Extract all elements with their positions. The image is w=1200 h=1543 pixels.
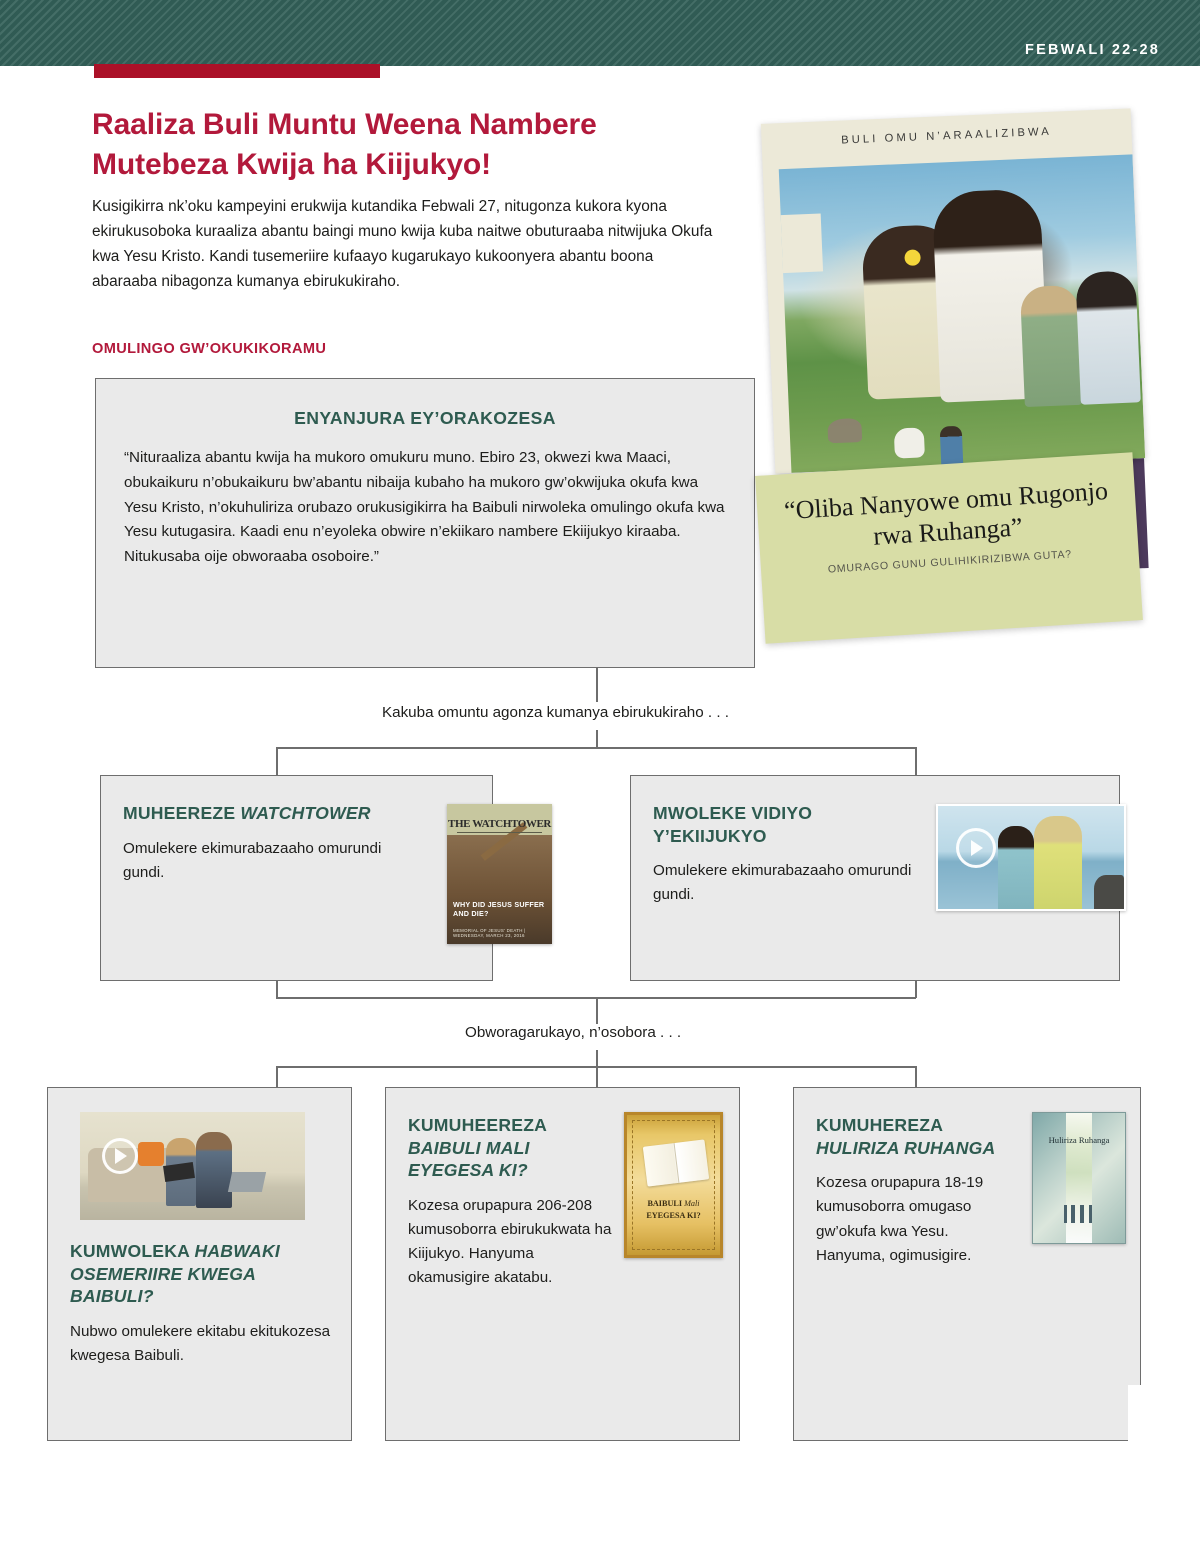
video-person-right bbox=[1034, 816, 1082, 911]
card-offer-listen-to-god-brochure: KUMUHEREZA HULIRIZA RUHANGA Kozesa orupa… bbox=[793, 1087, 1141, 1441]
red-accent-bar bbox=[94, 64, 380, 78]
connector-v-midleft-down bbox=[276, 981, 278, 998]
card-body: Nubwo omulekere ekitabu ekitukozesa kweg… bbox=[70, 1320, 332, 1369]
card-offer-bible-teach-book: KUMUHEEREZA BAIBULI MALI EYEGESA KI? Koz… bbox=[385, 1087, 740, 1441]
intro-paragraph: Kusigikirra nk’oku kampeyini erukwija ku… bbox=[92, 194, 717, 294]
section-subhead: OMULINGO GW’OKUKIKORAMU bbox=[92, 341, 326, 357]
flow-label-1: Kakuba omuntu agonza kumanya ebirukukira… bbox=[372, 704, 739, 721]
header-date-range: FEBWALI 22-28 bbox=[1025, 42, 1160, 58]
card-title-italic: HULIRIZA RUHANGA bbox=[816, 1138, 995, 1158]
connector-v-to-bot-2 bbox=[596, 1066, 598, 1088]
corner-notch bbox=[1128, 1385, 1152, 1443]
card-show-why-study-bible-video: KUMWOLEKA HABWAKI OSEMERIIRE KWEGA BAIBU… bbox=[47, 1087, 352, 1441]
cushion-shape bbox=[138, 1142, 164, 1166]
card-title: MUHEEREZE WATCHTOWER bbox=[123, 802, 423, 825]
bible-teach-book-cover: BAIBULI Mali EYEGESA KI? bbox=[624, 1112, 723, 1258]
cover-line1-italic: Mali bbox=[684, 1199, 699, 1208]
invitation-card-top: BULI OMU N’ARAALIZIBWA bbox=[761, 108, 1145, 473]
video-person-left bbox=[998, 826, 1034, 911]
connector-v-to-mid-left bbox=[276, 747, 278, 775]
card-title: KUMUHEREZA HULIRIZA RUHANGA bbox=[816, 1114, 1021, 1159]
card-title-italic: WATCHTOWER bbox=[240, 803, 370, 823]
card-title-plain: MUHEEREZE bbox=[123, 803, 240, 823]
card-title-plain: KUMUHEREZA bbox=[816, 1115, 942, 1135]
card-body: Omulekere ekimurabazaaho omurundi gundi. bbox=[653, 859, 923, 908]
laptop-shape bbox=[228, 1172, 266, 1192]
play-icon[interactable] bbox=[956, 828, 996, 868]
magazine-footer: MEMORIAL OF JESUS’ DEATH | WEDNESDAY, MA… bbox=[453, 928, 552, 938]
book-cover-title: BAIBULI Mali EYEGESA KI? bbox=[627, 1198, 720, 1221]
card-offer-watchtower: MUHEEREZE WATCHTOWER Omulekere ekimuraba… bbox=[100, 775, 493, 981]
horse-figure bbox=[894, 427, 925, 458]
girl-figure-left bbox=[1020, 285, 1083, 407]
header-band bbox=[0, 0, 1200, 66]
brochure-cover-title: Huliriza Ruhanga bbox=[1033, 1135, 1125, 1145]
card-title-italic: BAIBULI MALI EYEGESA KI? bbox=[408, 1138, 530, 1181]
boy-figure bbox=[940, 426, 964, 467]
card-title: KUMWOLEKA HABWAKI OSEMERIIRE KWEGA BAIBU… bbox=[70, 1240, 332, 1308]
magazine-headline: WHY DID JESUS SUFFER AND DIE? bbox=[453, 900, 552, 918]
listen-to-god-brochure-cover: Huliriza Ruhanga bbox=[1032, 1112, 1126, 1244]
watchtower-magazine-cover: THE WATCHTOWER WHY DID JESUS SUFFER AND … bbox=[447, 804, 552, 944]
card-text-block: KUMUHEREZA HULIRIZA RUHANGA Kozesa orupa… bbox=[816, 1114, 1021, 1268]
girl-figure-right bbox=[1075, 270, 1140, 404]
connector-h-split-2 bbox=[276, 747, 916, 749]
card-body: Kozesa orupapura 18-19 kumusoborra omuga… bbox=[816, 1171, 1021, 1268]
cover-line2: EYEGESA KI? bbox=[646, 1211, 700, 1220]
video-thumbnail[interactable] bbox=[936, 804, 1126, 911]
card-title: MWOLEKE VIDIYO Y’EKIIJUKYO bbox=[653, 802, 923, 847]
walking-figures bbox=[1064, 1205, 1094, 1223]
play-icon[interactable] bbox=[102, 1138, 138, 1174]
card-show-memorial-video: MWOLEKE VIDIYO Y’EKIIJUKYO Omulekere eki… bbox=[630, 775, 1120, 981]
card-title: KUMUHEEREZA BAIBULI MALI EYEGESA KI? bbox=[408, 1114, 618, 1182]
card-text-block: KUMWOLEKA HABWAKI OSEMERIIRE KWEGA BAIBU… bbox=[70, 1240, 332, 1368]
connector-v-quote-down bbox=[596, 668, 598, 702]
sample-presentation-box: ENYANJURA EY’ORAKOZESA “Nituraaliza aban… bbox=[95, 378, 755, 668]
masthead-rule bbox=[457, 832, 542, 833]
connector-v-to-mid-right bbox=[915, 747, 917, 775]
photo-step-shape bbox=[781, 213, 823, 273]
light-beam-shape bbox=[1066, 1113, 1092, 1243]
elephant-figure bbox=[827, 418, 862, 443]
invitation-photo bbox=[779, 154, 1145, 473]
card-text-block: MWOLEKE VIDIYO Y’EKIIJUKYO Omulekere eki… bbox=[653, 802, 923, 908]
connector-v-to-bot-3 bbox=[915, 1066, 917, 1088]
cover-line1: BAIBULI bbox=[647, 1199, 684, 1208]
invitation-headline: “Oliba Nanyowe omu Rugonjo rwa Ruhanga” bbox=[774, 475, 1119, 558]
video-thumbnail[interactable] bbox=[80, 1112, 305, 1220]
connector-v-label1-down bbox=[596, 730, 598, 748]
card-body: Omulekere ekimurabazaaho omurundi gundi. bbox=[123, 837, 423, 886]
invitation-kicker: BULI OMU N’ARAALIZIBWA bbox=[761, 122, 1131, 149]
connector-v-midright-down bbox=[915, 981, 917, 998]
card-body: Kozesa orupapura 206-208 kumusoborra ebi… bbox=[408, 1194, 618, 1291]
card-title-plain: KUMWOLEKA bbox=[70, 1241, 195, 1261]
connector-v-merge-down bbox=[596, 997, 598, 1024]
magazine-masthead: THE WATCHTOWER bbox=[447, 818, 552, 830]
video-rock bbox=[1094, 875, 1124, 909]
quote-box-body: “Nituraaliza abantu kwija ha mukoro omuk… bbox=[124, 446, 726, 570]
open-bible-illustration bbox=[643, 1139, 709, 1186]
card-text-block: MUHEEREZE WATCHTOWER Omulekere ekimuraba… bbox=[123, 802, 423, 885]
connector-v-to-bot-1 bbox=[276, 1066, 278, 1088]
page-title: Raaliza Buli Muntu Weena Nambere Mutebez… bbox=[92, 105, 732, 184]
flow-label-2: Obworagarukayo, n’osobora . . . bbox=[455, 1024, 691, 1041]
invitation-card-bottom: “Oliba Nanyowe omu Rugonjo rwa Ruhanga” … bbox=[755, 452, 1143, 643]
card-text-block: KUMUHEEREZA BAIBULI MALI EYEGESA KI? Koz… bbox=[408, 1114, 618, 1291]
invitation-artwork: BULI OMU N’ARAALIZIBWA “Oliba Nanyowe om… bbox=[752, 112, 1172, 657]
card-title-plain: KUMUHEEREZA bbox=[408, 1115, 546, 1135]
video-person-right bbox=[196, 1132, 232, 1208]
quote-box-title: ENYANJURA EY’ORAKOZESA bbox=[96, 408, 754, 429]
